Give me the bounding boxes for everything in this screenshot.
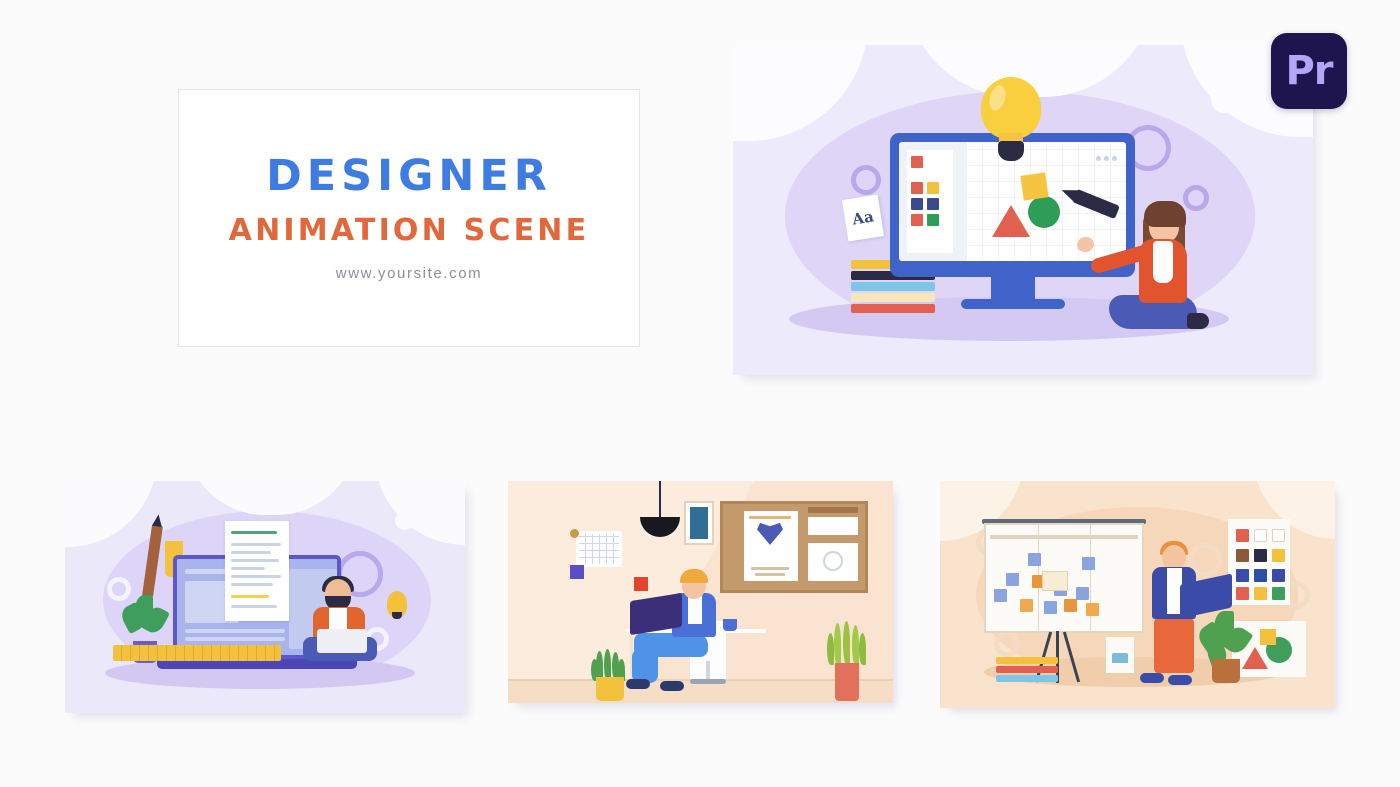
book-stack <box>996 657 1058 685</box>
corkboard-poster-left <box>744 511 798 581</box>
title-card[interactable]: DESIGNER ANIMATION SCENE www.yoursite.co… <box>178 89 640 347</box>
sticky-note <box>1020 599 1033 612</box>
hero-dot-right <box>1211 87 1237 113</box>
character-hair <box>680 569 708 583</box>
potted-plant <box>826 621 868 699</box>
premiere-pro-badge[interactable]: Pr <box>1271 33 1347 109</box>
corkboard-poster-bottom-right <box>808 543 858 581</box>
wall-calendar <box>576 531 622 567</box>
designer-character <box>297 579 385 665</box>
sticky-note <box>1044 601 1057 614</box>
whiteboard <box>984 523 1144 633</box>
sticky-note <box>1082 557 1095 570</box>
thumbnail-card-3[interactable] <box>940 481 1335 708</box>
page-subtitle: ANIMATION SCENE <box>229 214 590 247</box>
sticky-note <box>1042 571 1068 591</box>
website-url: www.yoursite.com <box>336 265 482 282</box>
sticky-note <box>570 565 584 579</box>
sticky-note <box>634 577 648 591</box>
sticky-note <box>1064 599 1077 612</box>
thumbnail-card-1[interactable] <box>65 481 465 713</box>
document-card <box>225 521 289 621</box>
coffee-mug <box>723 619 737 631</box>
corkboard-label <box>808 507 858 513</box>
lamp-cord <box>659 481 661 519</box>
thumbnail-3-illustration <box>940 481 1335 708</box>
hero-dot-left <box>793 85 820 112</box>
thumbnail-1-illustration <box>65 481 465 713</box>
sticky-note <box>570 529 579 538</box>
sticky-note <box>1086 603 1099 616</box>
t1-dot-left <box>107 509 127 529</box>
sticky-note <box>1076 587 1089 600</box>
page-title: DESIGNER <box>266 154 552 199</box>
sticky-note <box>994 589 1007 602</box>
swatch-poster <box>1228 519 1290 605</box>
potted-plant <box>1196 607 1254 685</box>
thumbnail-card-2[interactable] <box>508 481 893 703</box>
framed-picture <box>684 501 714 545</box>
premiere-pro-label: Pr <box>1285 51 1332 91</box>
shape-triangle <box>992 205 1030 237</box>
lightbulb-icon <box>981 77 1041 163</box>
t1-dot-right <box>395 511 414 530</box>
character-shoe <box>660 681 684 691</box>
thumbnail-2-illustration <box>508 481 893 703</box>
shape-square <box>1020 173 1048 201</box>
designer-character <box>1099 195 1219 335</box>
typography-card: Aa <box>842 194 884 241</box>
character-shin <box>632 649 658 683</box>
gear-icon <box>851 165 881 195</box>
tool-panel <box>899 142 967 261</box>
chair-base <box>690 679 726 684</box>
floor-poster <box>1106 637 1134 673</box>
lightbulb-icon <box>387 591 407 617</box>
title-card-content: DESIGNER ANIMATION SCENE www.yoursite.co… <box>179 90 639 346</box>
sticky-note <box>1006 573 1019 586</box>
ruler-icon <box>113 645 281 661</box>
corkboard-poster-top-right <box>808 517 858 535</box>
screenshot-stage: DESIGNER ANIMATION SCENE www.yoursite.co… <box>0 0 1400 787</box>
monitor-base <box>961 299 1065 309</box>
hero-illustration: Aa <box>733 45 1313 375</box>
gear-icon <box>994 631 1020 657</box>
shape-circle <box>1028 196 1060 228</box>
hero-scene-card[interactable]: Aa <box>733 45 1313 375</box>
swatch-strip <box>907 150 953 253</box>
window-controls <box>1096 156 1117 161</box>
sticky-note <box>1028 553 1041 566</box>
potted-plant <box>588 649 632 699</box>
